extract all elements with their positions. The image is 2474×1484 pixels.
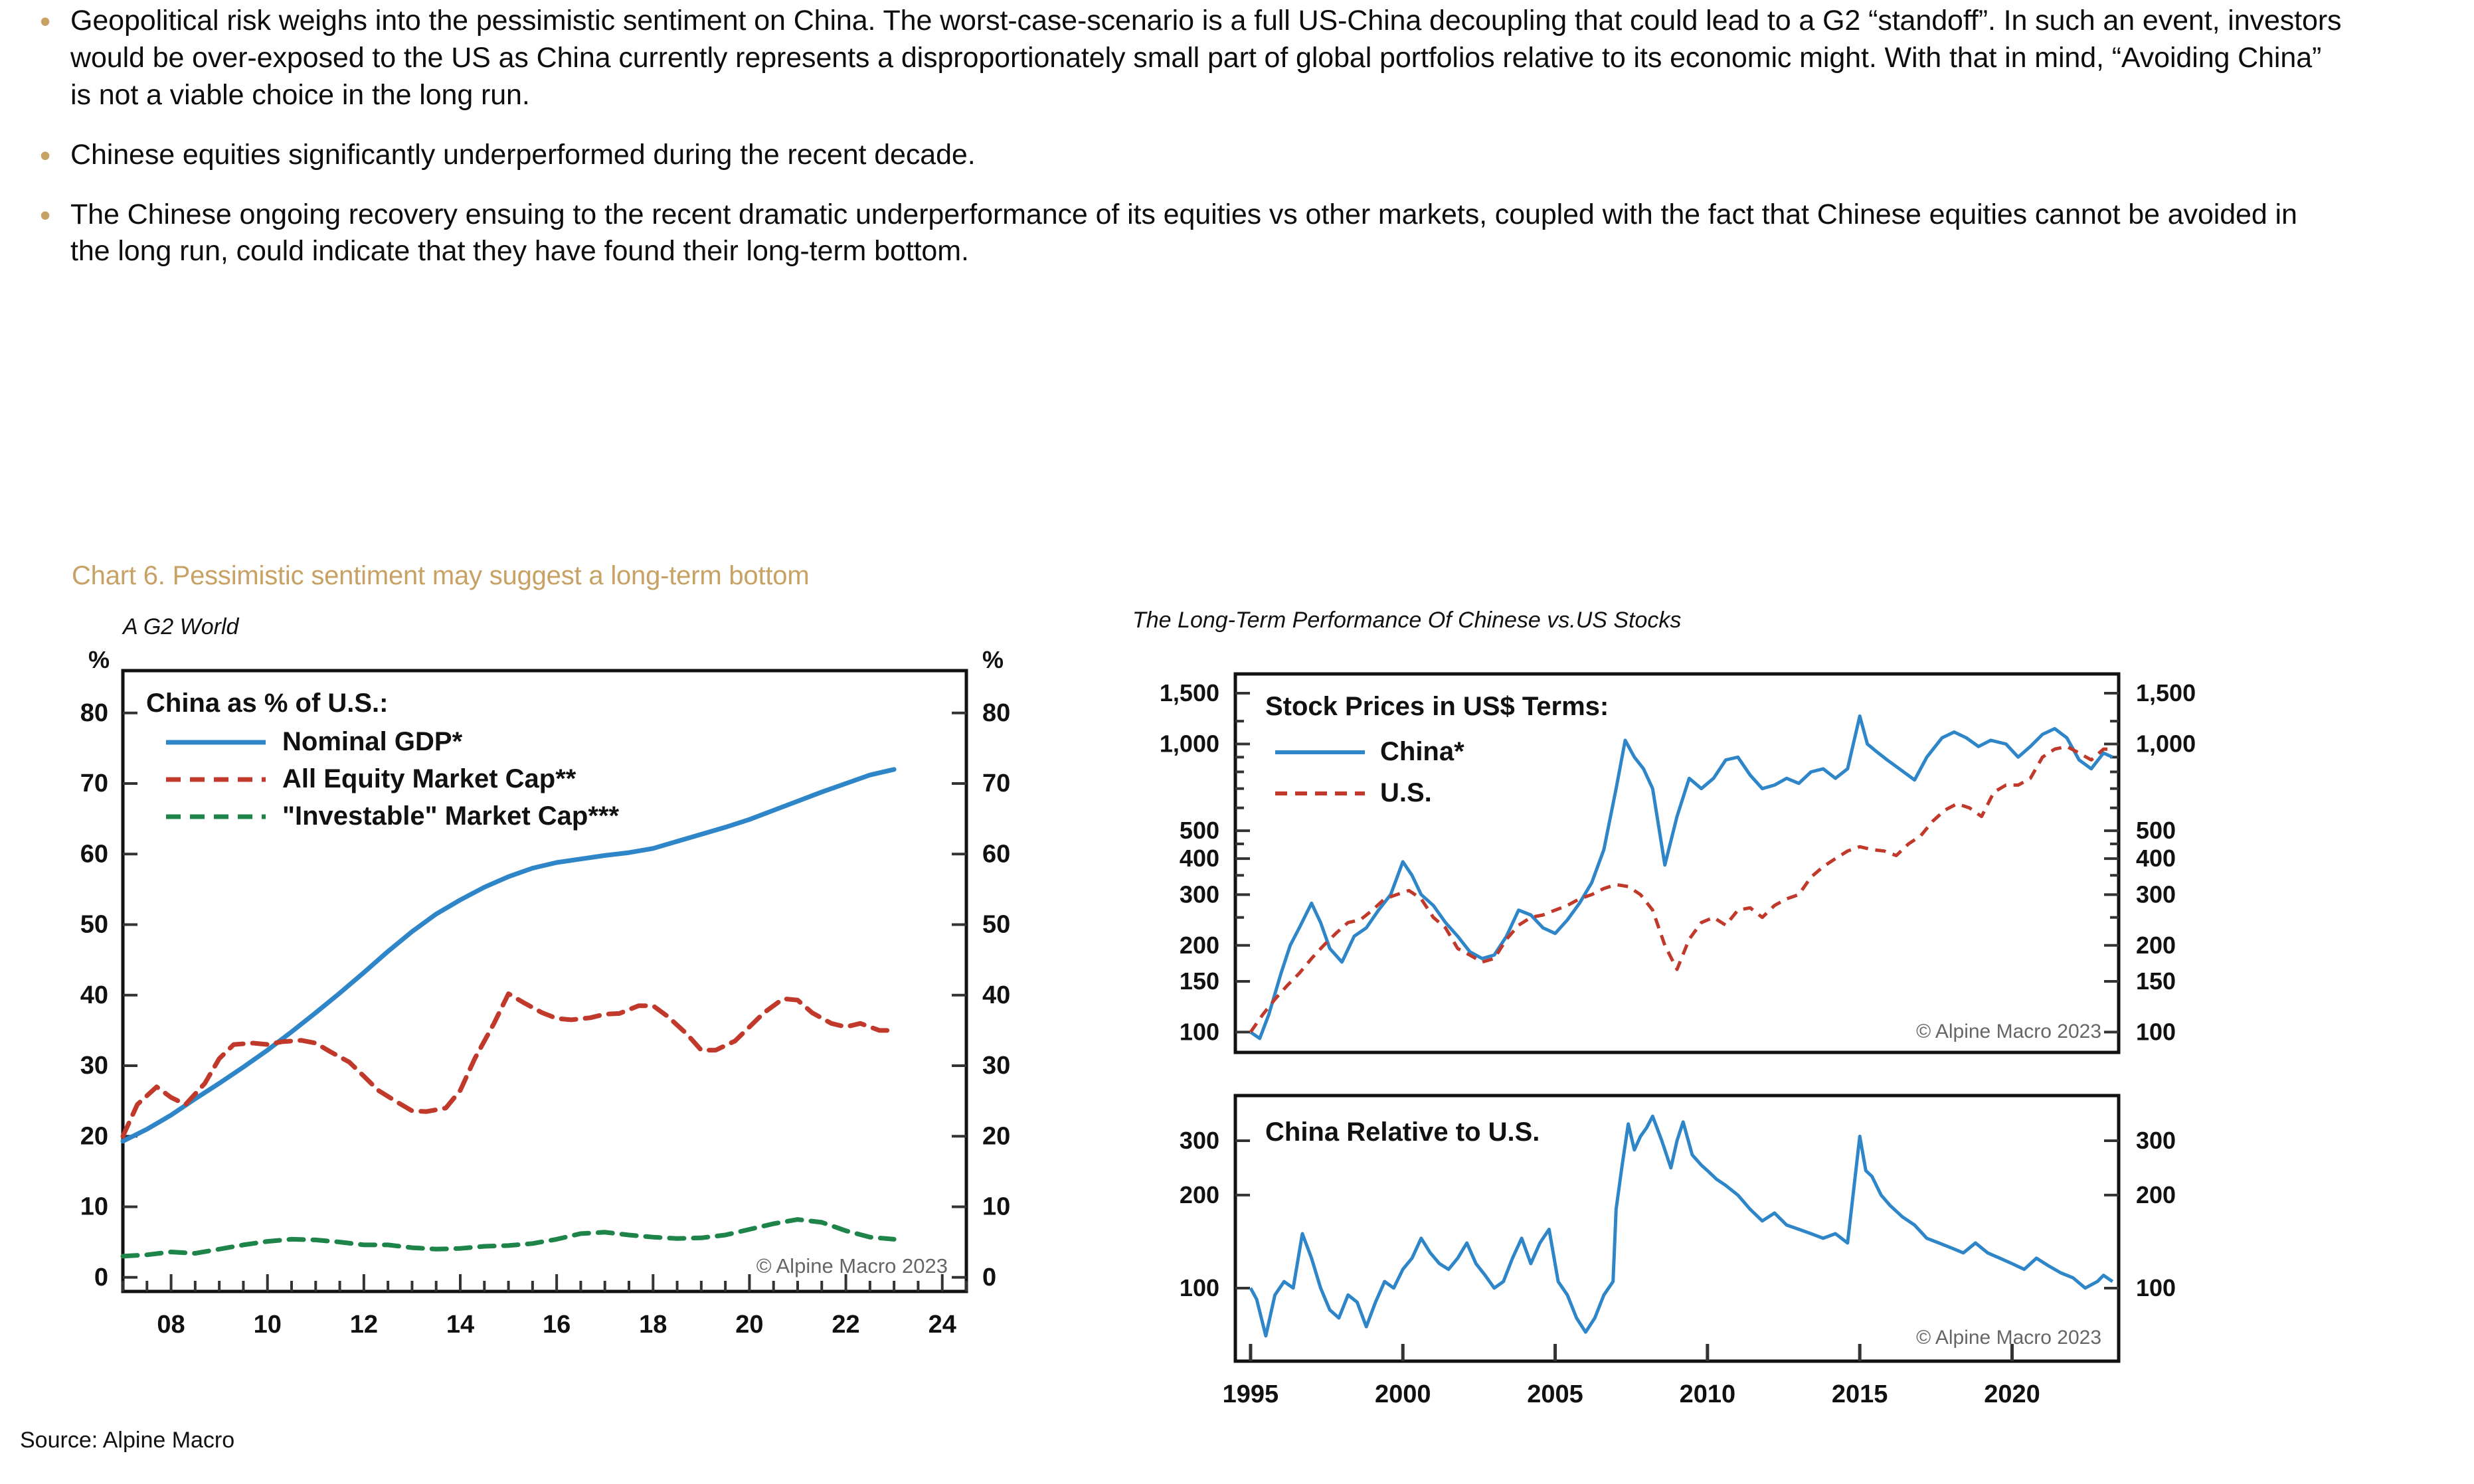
- x-axis-label: 18: [639, 1311, 667, 1339]
- y-axis-label: 60: [982, 840, 1010, 868]
- series--investable-market-cap-: [123, 1220, 894, 1256]
- y-axis-label: 70: [80, 770, 108, 797]
- panel-title: Stock Prices in US$ Terms:: [1265, 692, 1609, 721]
- legend-title: China as % of U.S.:: [146, 689, 389, 718]
- bullet-list: • Geopolitical risk weighs into the pess…: [40, 3, 2431, 293]
- y-axis-label: 50: [982, 911, 1010, 939]
- x-axis-label: 08: [157, 1311, 185, 1339]
- y-axis-label: 20: [982, 1122, 1010, 1150]
- x-axis-label: 22: [832, 1311, 859, 1339]
- y-axis-label: 200: [1180, 932, 1219, 959]
- y-axis-label: 60: [80, 840, 108, 868]
- y-axis-label: 0: [982, 1264, 996, 1291]
- legend-label: Nominal GDP*: [282, 727, 463, 756]
- x-axis-label: 20: [735, 1311, 763, 1339]
- y-axis-label: 80: [80, 699, 108, 727]
- y-axis-label: 80: [982, 699, 1010, 727]
- panel-title: China Relative to U.S.: [1265, 1117, 1540, 1147]
- g2-world-plot: 0010102020303040405050606070708080%%0810…: [0, 651, 1089, 1388]
- list-item: • Geopolitical risk weighs into the pess…: [40, 3, 2431, 114]
- list-item: • The Chinese ongoing recovery ensuing t…: [40, 197, 2431, 271]
- right-chart-caption: The Long-Term Performance Of Chinese vs.…: [1132, 608, 1681, 633]
- y-axis-label: 200: [2136, 932, 2176, 959]
- y-axis-label: 100: [2136, 1018, 2176, 1045]
- y-axis-label: 30: [982, 1052, 1010, 1080]
- y-axis-label: 100: [2136, 1274, 2176, 1301]
- legend-label: U.S.: [1380, 778, 1432, 807]
- x-axis-label: 2000: [1375, 1380, 1431, 1408]
- chart-g2-world: 0010102020303040405050606070708080%%0810…: [0, 651, 1089, 1388]
- y-axis-label: 20: [80, 1122, 108, 1150]
- left-chart-caption: A G2 World: [123, 614, 238, 640]
- y-axis-label: 200: [1180, 1181, 1219, 1208]
- bullet-text: Chinese equities significantly underperf…: [70, 137, 2342, 174]
- y-axis-label: 40: [80, 981, 108, 1009]
- x-axis-label: 16: [543, 1311, 571, 1339]
- y-axis-label: 150: [1180, 967, 1219, 995]
- china-vs-us-plot: 1001001501502002003003004004005005001,00…: [1103, 637, 2218, 1421]
- series-china-relative: [1251, 1116, 2113, 1336]
- y-axis-label: 300: [2136, 1127, 2176, 1154]
- copyright-note: © Alpine Macro 2023: [1916, 1021, 2101, 1042]
- x-axis-label: 2020: [1984, 1380, 2040, 1408]
- y-axis-label: 1,500: [1160, 679, 1219, 706]
- y-axis-unit: %: [88, 651, 110, 673]
- bullet-marker-icon: •: [40, 137, 70, 173]
- y-axis-label: 40: [982, 981, 1010, 1009]
- plot-frame: [1235, 674, 2119, 1052]
- chart-china-vs-us: 1001001501502002003003004004005005001,00…: [1103, 637, 2218, 1421]
- y-axis-label: 10: [982, 1193, 1010, 1221]
- x-axis-label: 10: [254, 1311, 282, 1339]
- legend-label: China*: [1380, 737, 1464, 766]
- x-axis-label: 2005: [1527, 1380, 1583, 1408]
- source-note: Source: Alpine Macro: [20, 1428, 234, 1453]
- y-axis-label: 1,000: [1160, 730, 1219, 757]
- y-axis-label: 10: [80, 1193, 108, 1221]
- x-axis-label: 1995: [1223, 1380, 1279, 1408]
- list-item: • Chinese equities significantly underpe…: [40, 137, 2431, 174]
- series-all-equity-market-cap-: [123, 994, 894, 1137]
- y-axis-label: 400: [2136, 845, 2176, 872]
- legend-label: All Equity Market Cap**: [282, 764, 576, 793]
- y-axis-label: 100: [1180, 1274, 1219, 1301]
- bullet-text: The Chinese ongoing recovery ensuing to …: [70, 197, 2342, 271]
- y-axis-label: 70: [982, 770, 1010, 797]
- y-axis-label: 200: [2136, 1181, 2176, 1208]
- y-axis-unit: %: [982, 651, 1004, 673]
- y-axis-label: 500: [1180, 817, 1219, 844]
- y-axis-label: 300: [2136, 880, 2176, 908]
- y-axis-label: 400: [1180, 845, 1219, 872]
- bullet-marker-icon: •: [40, 3, 70, 39]
- bullet-marker-icon: •: [40, 197, 70, 232]
- x-axis-label: 12: [350, 1311, 378, 1339]
- y-axis-label: 50: [80, 911, 108, 939]
- x-axis-label: 2015: [1832, 1380, 1888, 1408]
- x-axis-label: 24: [928, 1311, 956, 1339]
- copyright-note: © Alpine Macro 2023: [756, 1254, 948, 1278]
- y-axis-label: 500: [2136, 817, 2176, 844]
- y-axis-label: 100: [1180, 1018, 1219, 1045]
- chart-title: Chart 6. Pessimistic sentiment may sugge…: [72, 561, 809, 591]
- x-axis-label: 2010: [1680, 1380, 1736, 1408]
- bullet-text: Geopolitical risk weighs into the pessim…: [70, 3, 2342, 114]
- copyright-note: © Alpine Macro 2023: [1916, 1327, 2101, 1349]
- x-axis-label: 14: [446, 1311, 474, 1339]
- y-axis-label: 300: [1180, 880, 1219, 908]
- y-axis-label: 0: [94, 1264, 108, 1291]
- legend-label: "Investable" Market Cap***: [282, 801, 619, 831]
- y-axis-label: 30: [80, 1052, 108, 1080]
- y-axis-label: 1,500: [2136, 679, 2196, 706]
- y-axis-label: 1,000: [2136, 730, 2196, 757]
- y-axis-label: 150: [2136, 967, 2176, 995]
- y-axis-label: 300: [1180, 1127, 1219, 1154]
